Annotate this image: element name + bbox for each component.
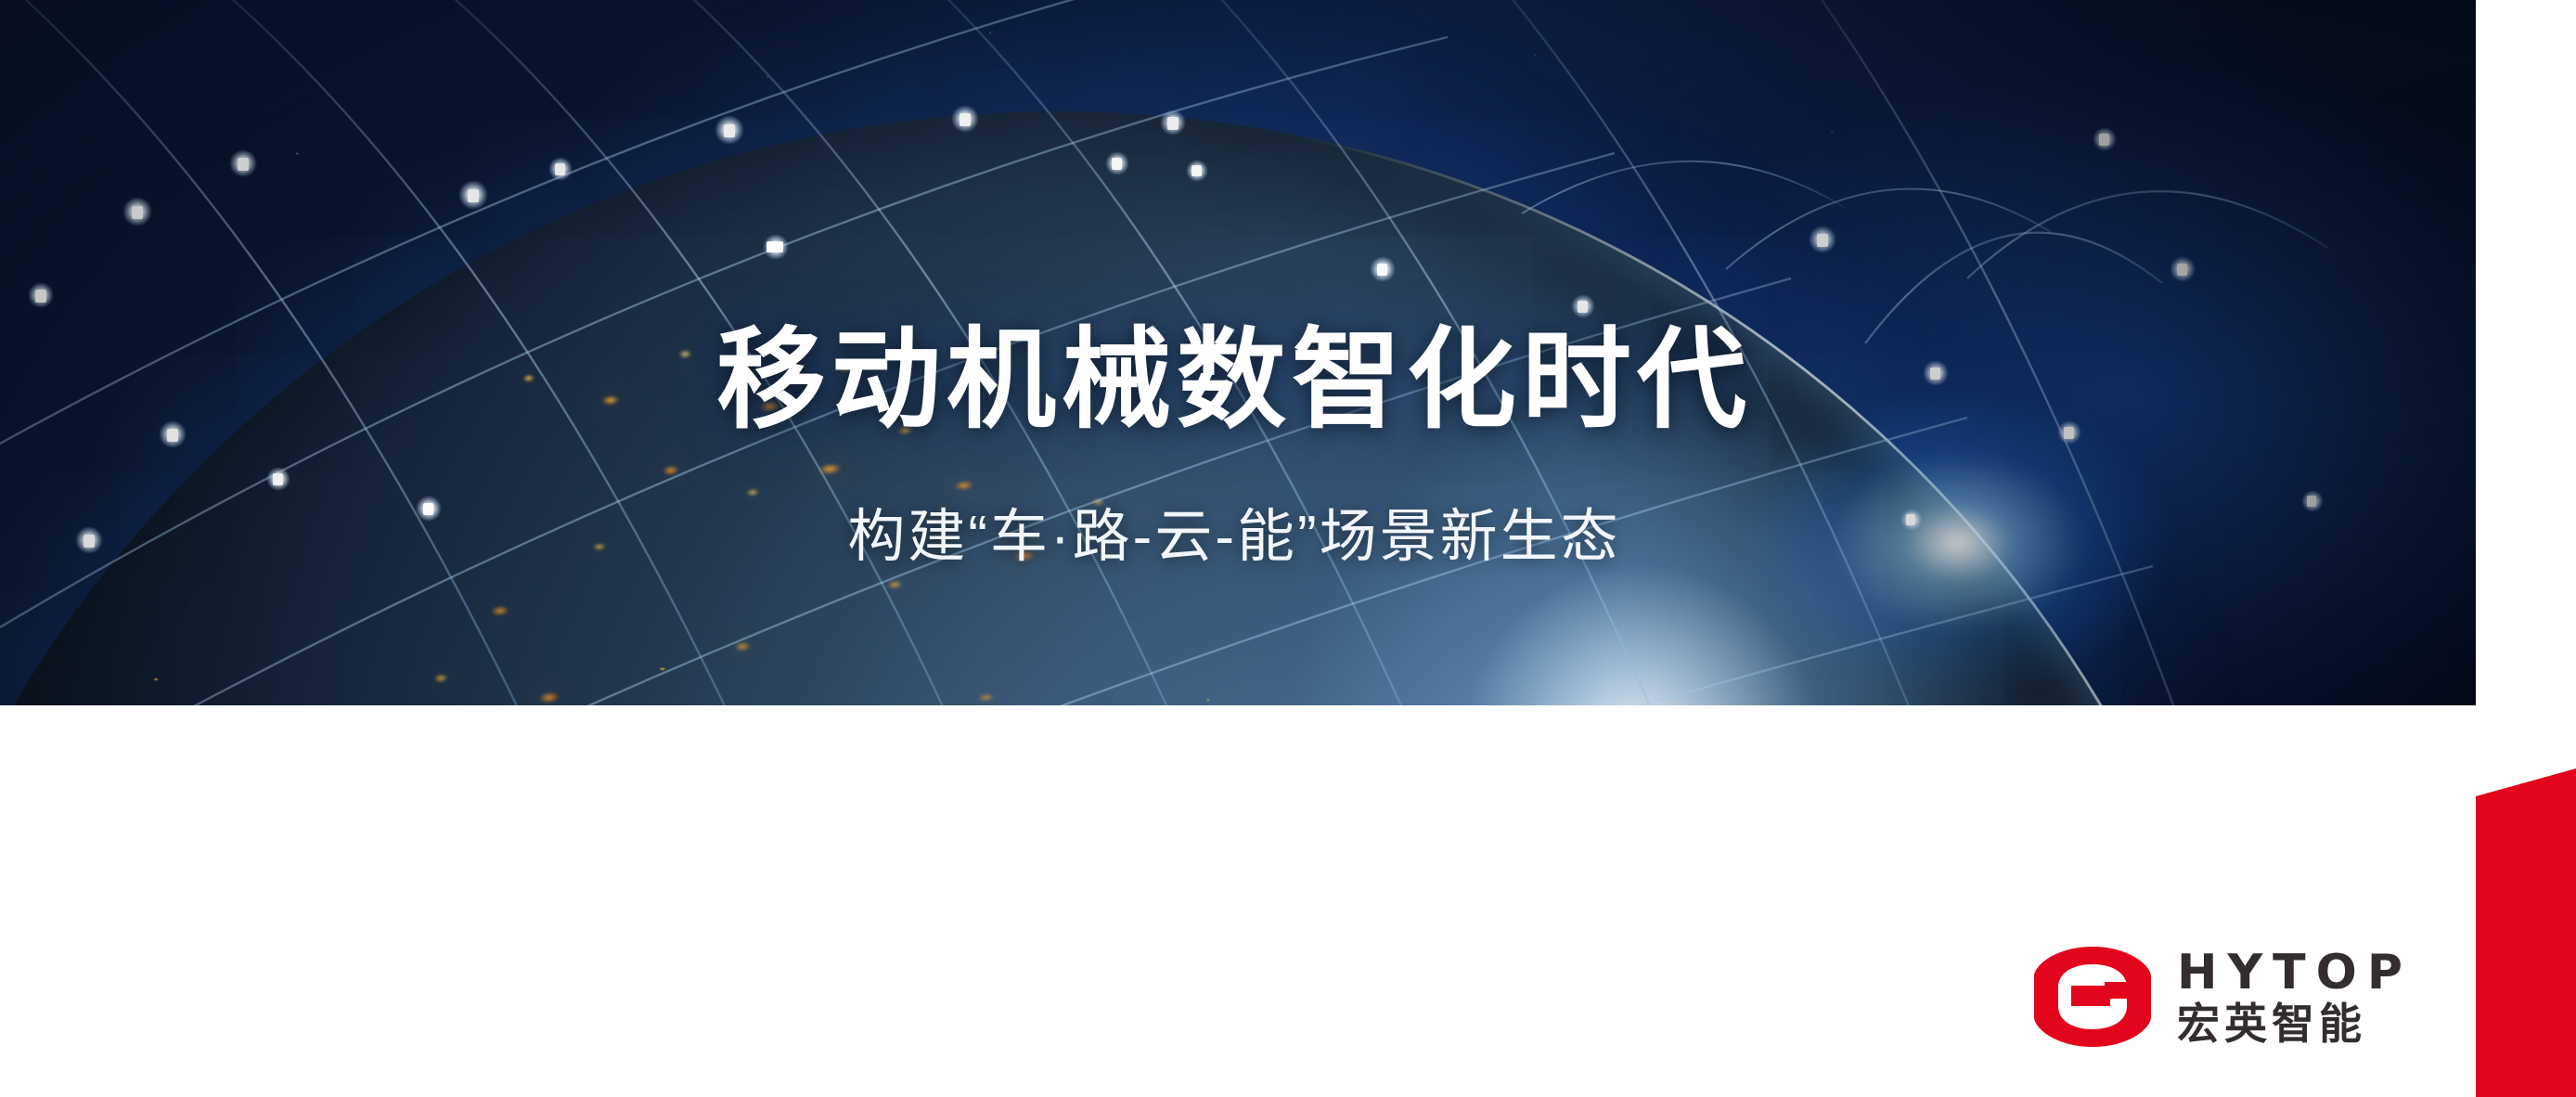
network-mesh-svg: [0, 0, 2476, 1097]
network-mesh-overlay: [0, 0, 2476, 1097]
network-nodes: [28, 105, 2324, 978]
hero-background-image: [0, 0, 2476, 1097]
brand-logo-text: HYTOP 宏英智能: [2177, 949, 2413, 1045]
brand-chinese-name: 宏英智能: [2177, 1002, 2413, 1045]
red-accent-bar-shape: [2476, 0, 2576, 1097]
title-slide: 移动机械数智化时代 构建“车·路-云-能”场景新生态 HYTOP 宏英智能: [0, 0, 2576, 1097]
hytop-g-mark-icon: [2034, 945, 2151, 1049]
brand-wordmark: HYTOP: [2177, 949, 2413, 997]
red-accent-bar: [2476, 0, 2576, 1097]
brand-logo: HYTOP 宏英智能: [2034, 945, 2413, 1049]
